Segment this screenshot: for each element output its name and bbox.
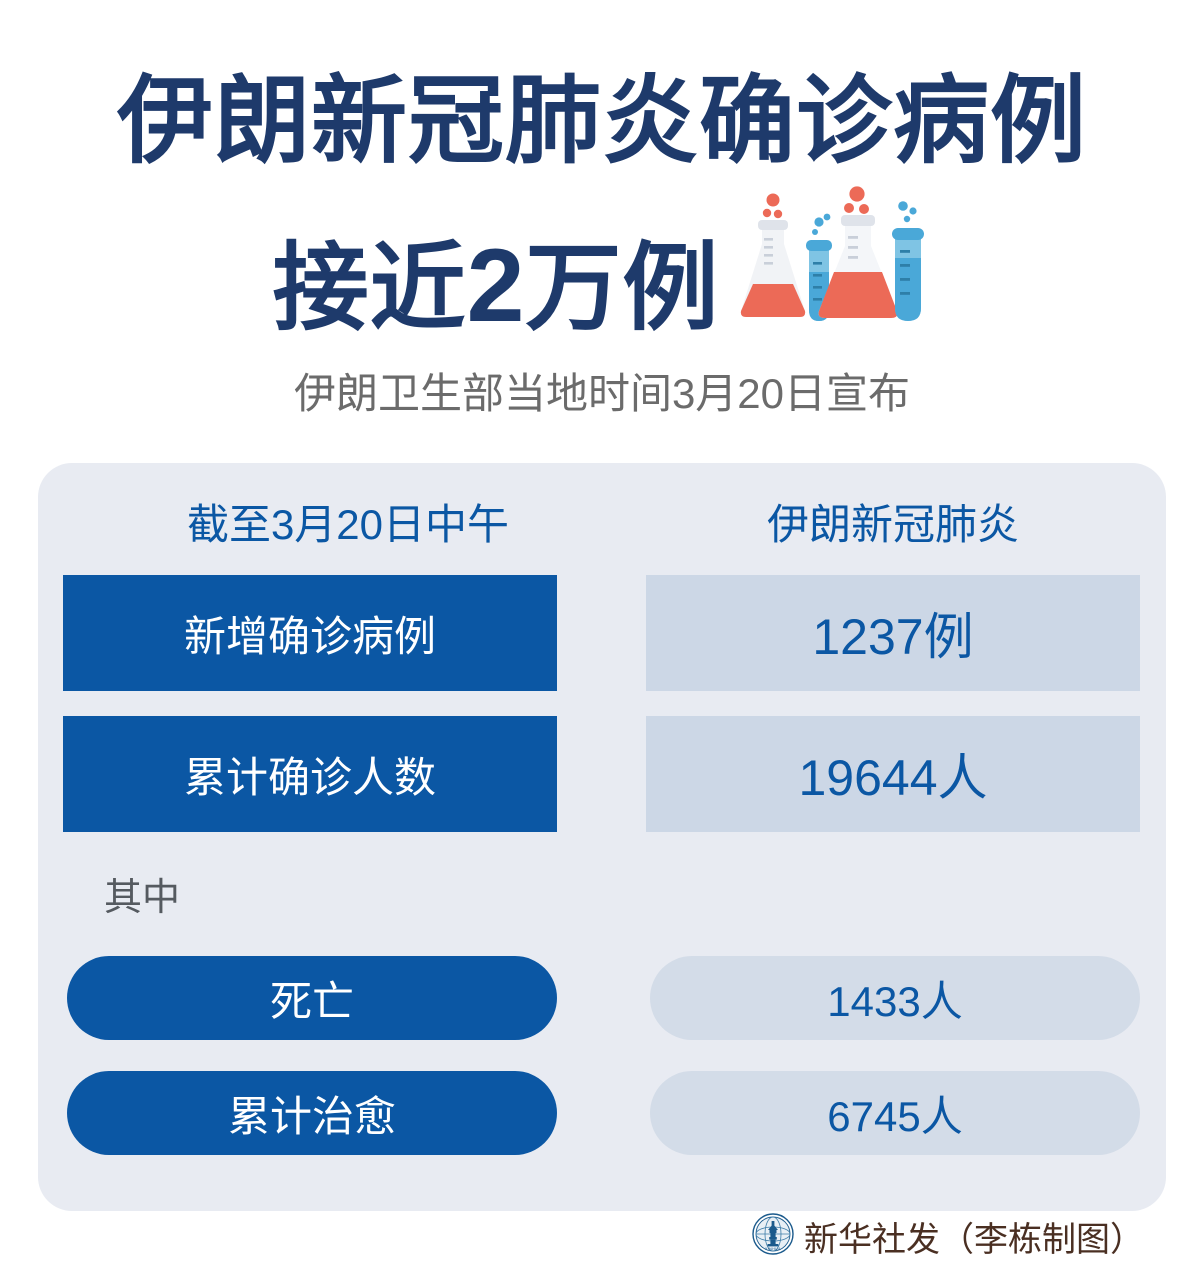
footer: XINHUA 新华社发（李栋制图） — [0, 1212, 1204, 1261]
column-header-right: 伊朗新冠肺炎 — [646, 491, 1140, 552]
xinhua-logo: XINHUA — [752, 1213, 794, 1260]
among-label: 其中 — [104, 866, 180, 921]
row-value: 19644人 — [646, 716, 1140, 832]
title-number: 2 — [467, 228, 526, 344]
table-row: 新增确诊病例 1237例 — [38, 575, 1166, 691]
stats-panel: 截至3月20日中午 伊朗新冠肺炎 新增确诊病例 1237例 累计确诊人数 196… — [38, 463, 1166, 1211]
title-suffix: 万例 — [525, 235, 719, 342]
column-header-left: 截至3月20日中午 — [101, 491, 595, 552]
row-label: 死亡 — [67, 956, 557, 1040]
row-label: 累计确诊人数 — [63, 716, 557, 832]
row-value: 1237例 — [646, 575, 1140, 691]
row-value: 1433人 — [650, 956, 1140, 1040]
svg-text:XINHUA: XINHUA — [765, 1247, 781, 1251]
subtitle: 伊朗卫生部当地时间3月20日宣布 — [0, 360, 1204, 421]
table-row: 累计确诊人数 19644人 — [38, 716, 1166, 832]
table-row: 累计治愈 6745人 — [38, 1071, 1166, 1155]
page-title-line2-row: 接近2万例 — [0, 184, 1204, 338]
column-headers: 截至3月20日中午 伊朗新冠肺炎 — [38, 491, 1166, 549]
credit-text: 新华社发（李栋制图） — [804, 1212, 1144, 1261]
row-label: 累计治愈 — [67, 1071, 557, 1155]
page-title-line2: 接近2万例 — [273, 234, 720, 338]
title-prefix: 接近 — [273, 235, 467, 342]
row-value: 6745人 — [650, 1071, 1140, 1155]
row-label: 新增确诊病例 — [63, 575, 557, 691]
page-title-line1: 伊朗新冠肺炎确诊病例 — [0, 74, 1204, 170]
lab-flasks-icon — [731, 184, 931, 334]
table-row: 死亡 1433人 — [38, 956, 1166, 1040]
header: 伊朗新冠肺炎确诊病例 接近2万例 — [0, 0, 1204, 421]
